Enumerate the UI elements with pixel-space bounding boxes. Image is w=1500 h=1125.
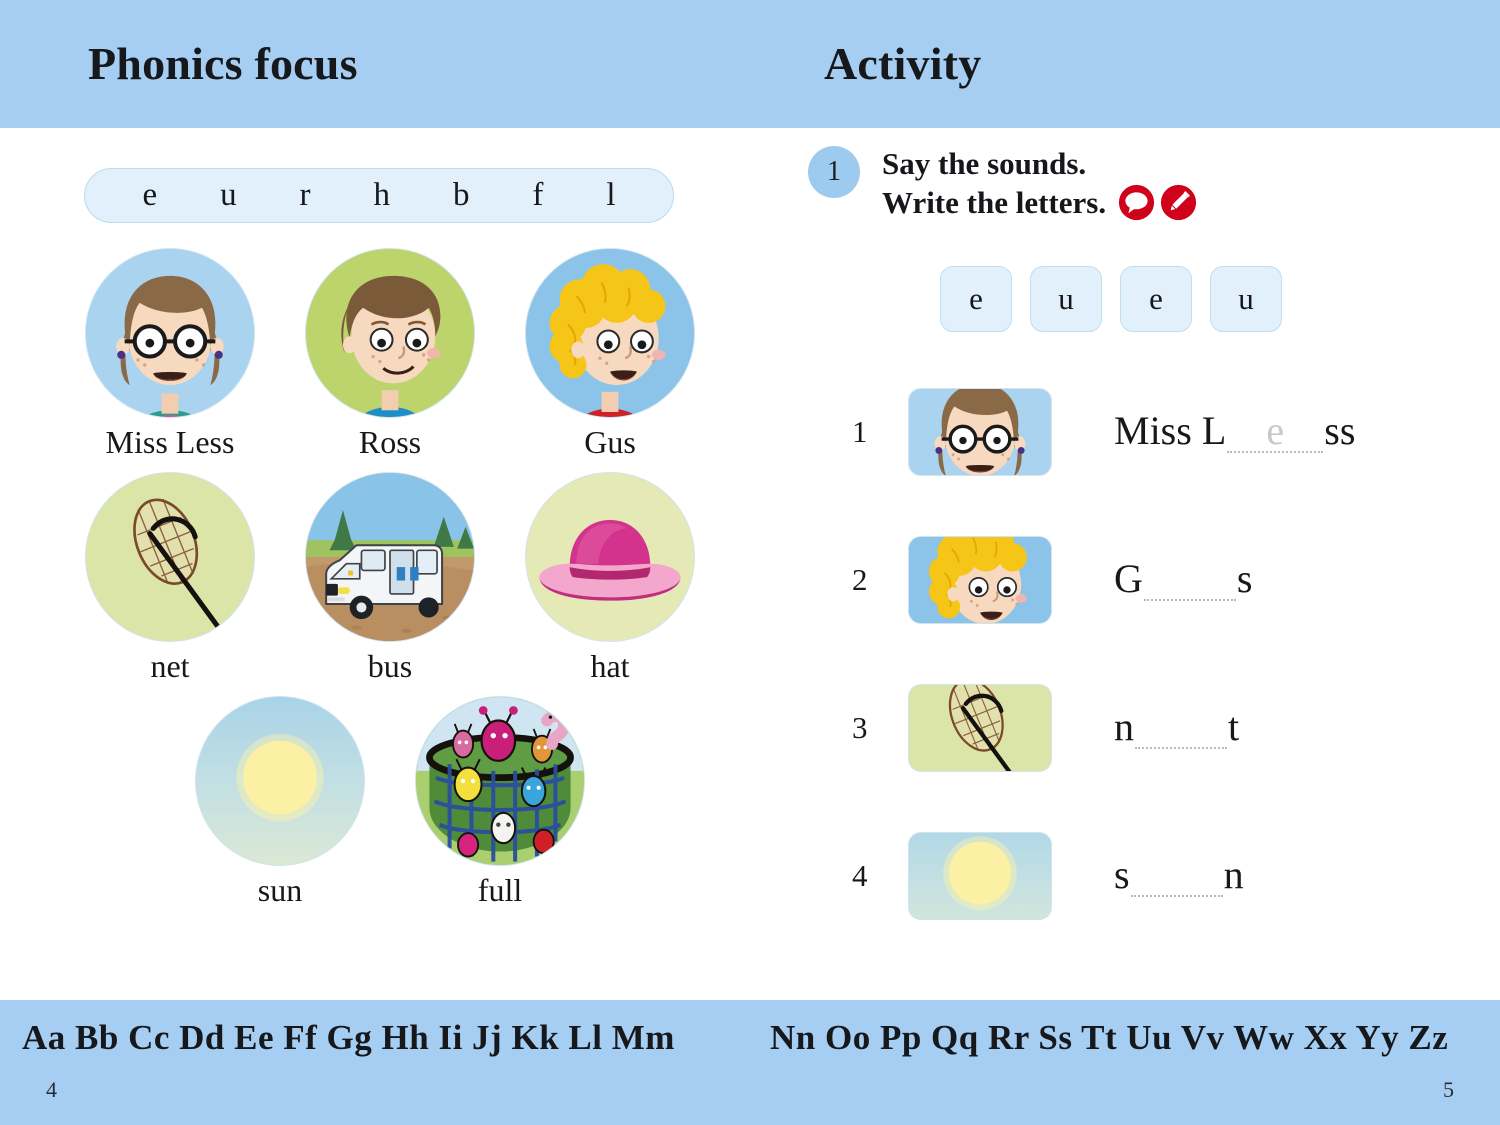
question-row-1: 1 Miss Less bbox=[852, 382, 1452, 481]
picture-cell-hat: hat bbox=[500, 472, 720, 682]
picture-caption: net bbox=[150, 650, 189, 682]
footer-left: Aa Bb Cc Dd Ee Ff Gg Hh Ii Jj Kk Ll Mm 4 bbox=[0, 1000, 750, 1125]
picture-caption: sun bbox=[258, 874, 302, 906]
header-right: Activity bbox=[764, 0, 1500, 128]
instruction-line-1: Say the sounds. bbox=[882, 144, 1197, 183]
instruction-icons bbox=[1118, 184, 1197, 221]
strip-letter-l-6: l bbox=[606, 177, 615, 214]
boy-brown-hair-portrait bbox=[305, 248, 475, 418]
word-suffix: n bbox=[1224, 855, 1244, 895]
activity-number-badge: 1 bbox=[808, 146, 860, 198]
answer-hint-letter bbox=[1131, 855, 1223, 895]
question-word: G s bbox=[1114, 559, 1252, 601]
picture-cell-ross: Ross bbox=[280, 248, 500, 458]
speech-bubble-icon bbox=[1118, 184, 1155, 221]
question-word: Miss Less bbox=[1114, 411, 1355, 453]
instruction-line-1-text: Say the sounds. bbox=[882, 144, 1086, 183]
question-thumbnail-boy-blond-curly-portrait bbox=[908, 536, 1052, 624]
picture-cell-net: net bbox=[60, 472, 280, 682]
sun-in-sky bbox=[195, 696, 365, 866]
picture-cell-gus: Gus bbox=[500, 248, 720, 458]
picture-row: sun bbox=[60, 696, 720, 906]
picture-row: Miss Less Ross bbox=[60, 248, 720, 458]
strip-letter-f-5: f bbox=[532, 177, 543, 214]
header-left: Phonics focus bbox=[0, 0, 764, 128]
answer-hint-letter bbox=[1135, 707, 1227, 747]
picture-caption: Ross bbox=[359, 426, 421, 458]
strip-letter-r-2: r bbox=[300, 177, 311, 214]
picture-cell-full: full bbox=[390, 696, 610, 906]
answer-hint-letter: e bbox=[1227, 411, 1323, 451]
net-basket-full-of-bugs bbox=[415, 696, 585, 866]
question-word: n t bbox=[1114, 707, 1239, 749]
word-suffix: s bbox=[1237, 559, 1253, 599]
word-prefix: s bbox=[1114, 855, 1130, 895]
answer-hint-letter bbox=[1144, 559, 1236, 599]
strip-letter-u-1: u bbox=[220, 177, 237, 214]
question-rows: 1 Miss Less2 bbox=[852, 382, 1452, 974]
question-row-3: 3 n t bbox=[852, 678, 1452, 777]
answer-tile-e-2[interactable]: e bbox=[1120, 266, 1192, 332]
question-thumbnail-butterfly-net bbox=[908, 684, 1052, 772]
picture-caption: Gus bbox=[584, 426, 636, 458]
footer-band: Aa Bb Cc Dd Ee Ff Gg Hh Ii Jj Kk Ll Mm 4… bbox=[0, 1000, 1500, 1125]
word-prefix: n bbox=[1114, 707, 1134, 747]
butterfly-net bbox=[85, 472, 255, 642]
girl-teacher-glasses-portrait bbox=[85, 248, 255, 418]
picture-caption: hat bbox=[590, 650, 629, 682]
pink-sun-hat bbox=[525, 472, 695, 642]
page-title-phonics-focus: Phonics focus bbox=[88, 41, 358, 87]
answer-tile-u-3[interactable]: u bbox=[1210, 266, 1282, 332]
question-thumbnail-girl-teacher-glasses-portrait bbox=[908, 388, 1052, 476]
picture-cell-sun: sun bbox=[170, 696, 390, 906]
boy-blond-curly-portrait bbox=[525, 248, 695, 418]
word-suffix: ss bbox=[1324, 411, 1355, 451]
answer-tile-e-0[interactable]: e bbox=[940, 266, 1012, 332]
question-row-2: 2 bbox=[852, 530, 1452, 629]
page-number-left: 4 bbox=[46, 1077, 57, 1103]
answer-blank[interactable] bbox=[1135, 707, 1227, 749]
question-row-4: 4 s n bbox=[852, 826, 1452, 925]
picture-caption: full bbox=[478, 874, 522, 906]
picture-caption: bus bbox=[368, 650, 412, 682]
pencil-icon bbox=[1160, 184, 1197, 221]
white-minibus-on-road bbox=[305, 472, 475, 642]
question-number: 2 bbox=[852, 562, 908, 598]
body-area: eurhbfl bbox=[0, 128, 1500, 1000]
letter-tiles: eueu bbox=[940, 266, 1282, 332]
page-number-right: 5 bbox=[1443, 1077, 1454, 1103]
question-word: s n bbox=[1114, 855, 1244, 897]
answer-blank[interactable]: e bbox=[1227, 411, 1323, 453]
strip-letter-b-4: b bbox=[453, 177, 470, 214]
picture-row: net bbox=[60, 472, 720, 682]
question-number: 4 bbox=[852, 858, 908, 894]
answer-tile-u-1[interactable]: u bbox=[1030, 266, 1102, 332]
header-band: Phonics focus Activity bbox=[0, 0, 1500, 128]
picture-grid: Miss Less Ross bbox=[60, 248, 720, 920]
strip-letter-h-3: h bbox=[373, 177, 390, 214]
activity-column: 1 Say the sounds. Write the letters. bbox=[760, 128, 1500, 1000]
word-prefix: Miss L bbox=[1114, 411, 1226, 451]
worksheet-page: Phonics focus Activity eurhbfl bbox=[0, 0, 1500, 1125]
activity-instruction-block: 1 Say the sounds. Write the letters. bbox=[808, 144, 1197, 222]
word-prefix: G bbox=[1114, 559, 1143, 599]
question-number: 1 bbox=[852, 414, 908, 450]
instruction-line-2-text: Write the letters. bbox=[882, 183, 1106, 222]
activity-instruction-text: Say the sounds. Write the letters. bbox=[882, 144, 1197, 222]
phonics-focus-column: eurhbfl bbox=[0, 128, 760, 1000]
question-thumbnail-sun-in-sky bbox=[908, 832, 1052, 920]
alphabet-strip-right: Nn Oo Pp Qq Rr Ss Tt Uu Vv Ww Xx Yy Zz bbox=[770, 1018, 1448, 1058]
answer-blank[interactable] bbox=[1144, 559, 1236, 601]
instruction-line-2: Write the letters. bbox=[882, 183, 1197, 222]
picture-cell-miss-less: Miss Less bbox=[60, 248, 280, 458]
alphabet-strip-left: Aa Bb Cc Dd Ee Ff Gg Hh Ii Jj Kk Ll Mm bbox=[22, 1018, 675, 1058]
page-title-activity: Activity bbox=[824, 41, 981, 87]
picture-caption: Miss Less bbox=[106, 426, 235, 458]
answer-blank[interactable] bbox=[1131, 855, 1223, 897]
picture-cell-bus: bus bbox=[280, 472, 500, 682]
question-number: 3 bbox=[852, 710, 908, 746]
footer-right: Nn Oo Pp Qq Rr Ss Tt Uu Vv Ww Xx Yy Zz 5 bbox=[750, 1000, 1500, 1125]
letter-strip: eurhbfl bbox=[84, 168, 674, 223]
strip-letter-e-0: e bbox=[142, 177, 157, 214]
word-suffix: t bbox=[1228, 707, 1239, 747]
